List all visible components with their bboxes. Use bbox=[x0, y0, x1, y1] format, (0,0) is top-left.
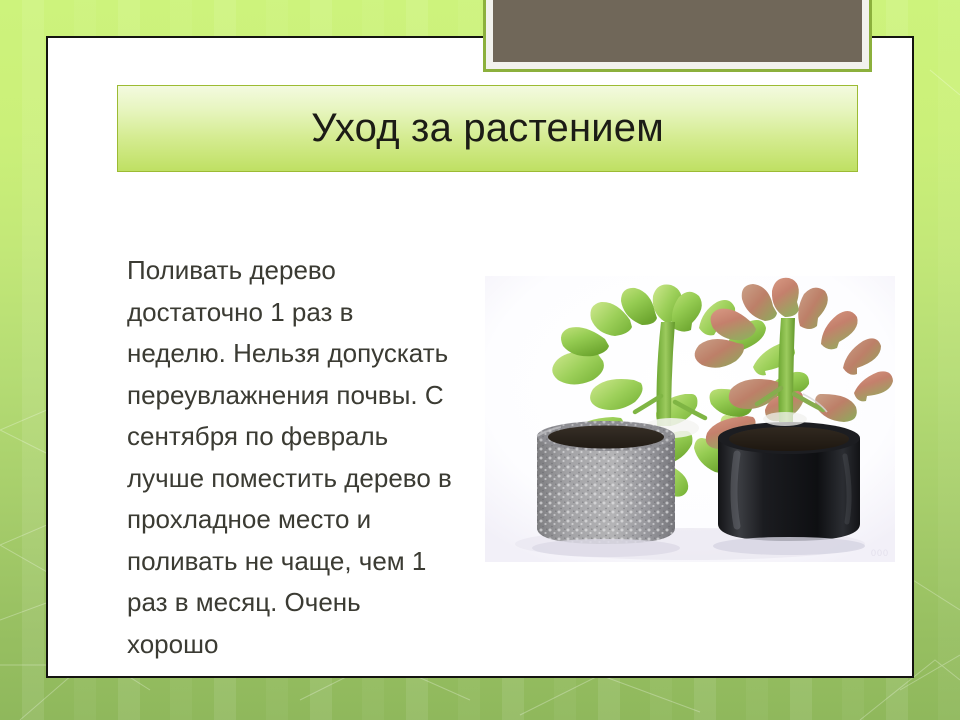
left-plant-pot bbox=[537, 421, 675, 544]
presentation-slide: Уход за растением Поливать дерево достат… bbox=[0, 0, 960, 720]
plant-photo-illustration bbox=[485, 276, 895, 562]
slide-body-text: Поливать дерево достаточно 1 раз в недел… bbox=[127, 250, 457, 665]
decorative-rectangle-fill bbox=[493, 0, 862, 62]
right-plant-pot bbox=[718, 412, 860, 541]
slide-title-bar: Уход за растением bbox=[117, 85, 858, 172]
page-title: Уход за растением bbox=[311, 106, 664, 151]
plant-photo: 000 bbox=[485, 276, 895, 562]
decorative-top-rectangle bbox=[483, 0, 872, 72]
